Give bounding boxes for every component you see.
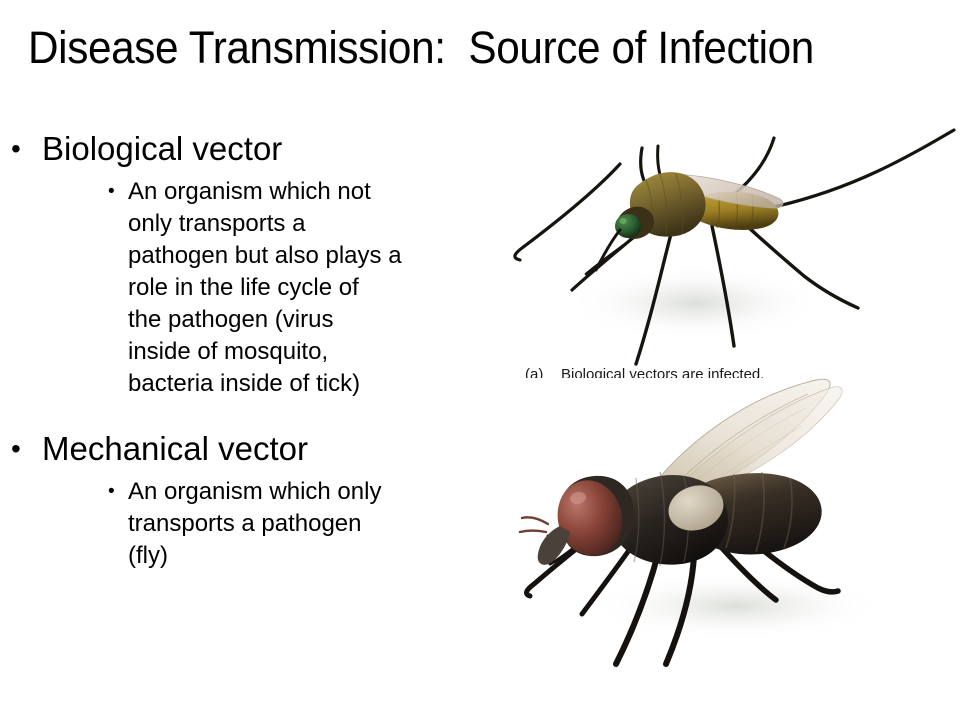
sub-bullet-line: transports a pathogen [128, 508, 486, 540]
bullet-glyph-icon: • [11, 428, 21, 470]
sub-bullet-glyph-icon: • [108, 476, 115, 508]
sub-bullet-line: inside of mosquito, [128, 336, 486, 368]
sub-bullet-biological-detail: • An organism which not only transports … [0, 176, 486, 400]
section-spacer [0, 400, 486, 428]
slide-canvas: Disease Transmission: Source of Infectio… [0, 0, 960, 720]
sub-bullet-line: (fly) [128, 540, 486, 572]
sub-bullet-line: the pathogen (virus [128, 304, 486, 336]
sub-bullet-line: pathogen but also plays a [128, 240, 486, 272]
sub-bullet-line: An organism which not [128, 176, 486, 208]
sub-bullet-line: role in the life cycle of [128, 272, 486, 304]
mosquito-photo [486, 78, 960, 378]
sub-bullet-glyph-icon: • [108, 176, 115, 208]
bullet-glyph-icon: • [11, 128, 21, 170]
bullet-biological-vector: • Biological vector [0, 128, 486, 170]
bullet-mechanical-vector: • Mechanical vector [0, 428, 486, 470]
sub-bullet-mechanical-detail: • An organism which only transports a pa… [0, 476, 486, 572]
sub-bullet-line: bacteria inside of tick) [128, 368, 486, 400]
figure-mechanical-vector: (b)Mechanical vectors are not infected. [486, 378, 960, 678]
figure-column: (a)Biological vectors are infected. [486, 78, 960, 720]
bullet-label: Biological vector [42, 130, 282, 167]
sub-bullet-line: only transports a [128, 208, 486, 240]
bullet-label: Mechanical vector [42, 430, 308, 467]
figure-biological-vector: (a)Biological vectors are infected. [486, 78, 960, 378]
housefly-photo [486, 378, 960, 678]
page-title: Disease Transmission: Source of Infectio… [28, 22, 885, 74]
sub-bullet-line: An organism which only [128, 476, 486, 508]
body-text-column: • Biological vector • An organism which … [0, 128, 486, 572]
